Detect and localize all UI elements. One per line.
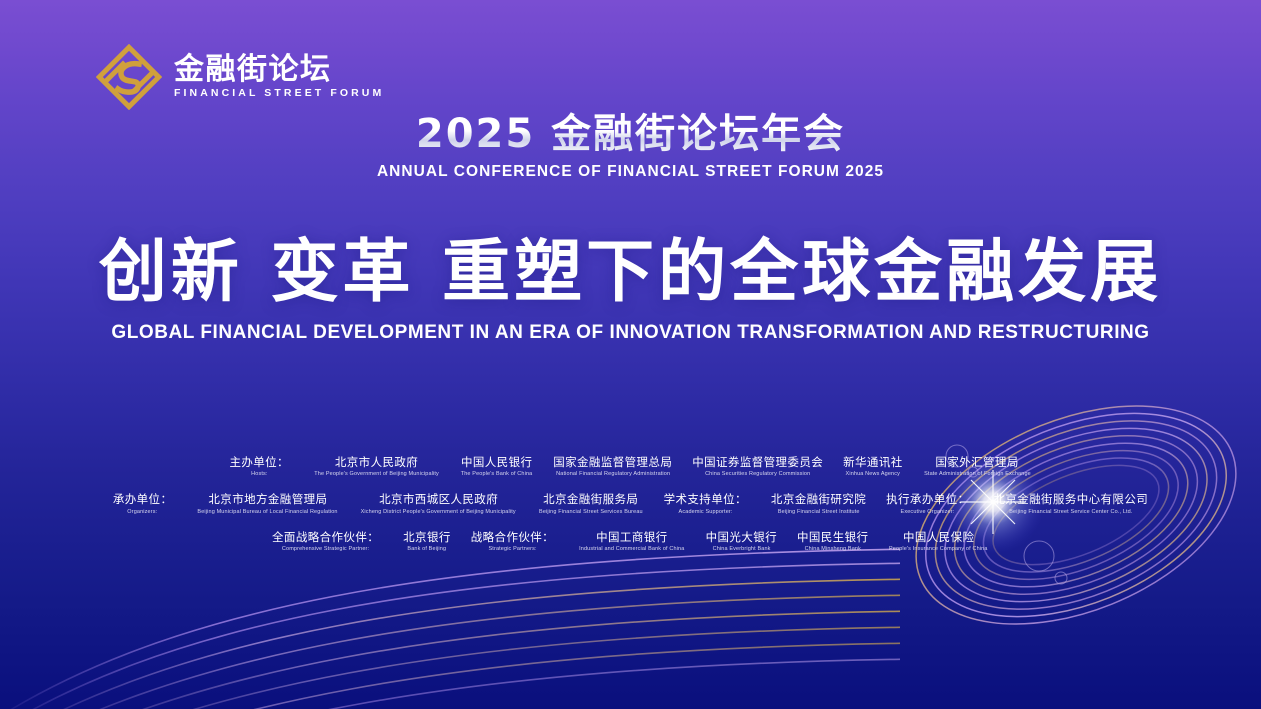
organizer-entity: 国家外汇管理局State Administration of Foreign E… [913,455,1042,478]
organizer-entity: 中国工商银行Industrial and Commercial Bank of … [568,530,696,553]
organizer-name-en: Executive Organizer: [901,509,955,516]
organizer-name-cn: 学术支持单位： [664,492,747,506]
organizer-category-label: 战略合作伙伴：Strategic Partners: [461,530,568,553]
organizer-category-label: 承办单位：Organizers: [103,492,187,515]
organizer-name-en: State Administration of Foreign Exchange [924,471,1031,478]
brand-name-cn: 金融街论坛 [174,55,384,85]
organizer-name-en: Hosts: [251,471,267,478]
organizer-name-cn: 北京金融街服务中心有限公司 [993,492,1148,506]
theme-block: 创新 变革 重塑下的全球金融发展 GLOBAL FINANCIAL DEVELO… [0,236,1261,342]
brand-name-en: FINANCIAL STREET FORUM [174,88,384,99]
organizer-entity: 北京金融街服务中心有限公司Beijing Financial Street Se… [983,492,1158,515]
organizer-name-cn: 中国人民保险 [903,530,974,544]
organizer-name-en: The People's Government of Beijing Munic… [314,471,439,478]
organizer-name-en: Beijing Financial Street Service Center … [1009,509,1132,516]
organizer-name-cn: 战略合作伙伴： [471,530,554,544]
organizer-name-cn: 中国民生银行 [797,530,868,544]
organizer-entity: 北京银行Bank of Beijing [393,530,461,553]
organizer-name-en: China Securities Regulatory Commission [705,471,810,478]
organizer-name-cn: 北京银行 [403,530,451,544]
brand-logo[interactable]: 金融街论坛 FINANCIAL STREET FORUM [96,44,384,110]
organizer-category-label: 执行承办单位：Executive Organizer: [876,492,983,515]
organizer-name-en: Organizers: [128,509,158,516]
organizer-name-en: Industrial and Commercial Bank of China [579,546,684,553]
organizer-entity: 中国人民银行The People's Bank of China [450,455,543,478]
organizer-name-cn: 中国证券监督管理委员会 [692,455,823,469]
organizer-name-en: China Minsheng Bank [804,546,860,553]
organizer-category-label: 主办单位：Hosts: [219,455,303,478]
organizer-entity: 中国证券监督管理委员会China Securities Regulatory C… [682,455,833,478]
organizer-name-cn: 国家金融监督管理总局 [553,455,672,469]
organizer-entity: 北京金融街研究院Beijing Financial Street Institu… [761,492,876,515]
poster-canvas: 金融街论坛 FINANCIAL STREET FORUM 2025 金融街论坛年… [0,0,1261,709]
theme-title-en: GLOBAL FINANCIAL DEVELOPMENT IN AN ERA O… [0,323,1261,342]
organizer-name-cn: 执行承办单位： [886,492,969,506]
organizer-name-cn: 北京市地方金融管理局 [208,492,327,506]
organizer-name-cn: 北京市西城区人民政府 [379,492,498,506]
organizer-name-en: Beijing Financial Street Services Bureau [539,509,643,516]
theme-title-cn: 创新 变革 重塑下的全球金融发展 [0,236,1261,309]
organizer-name-cn: 中国人民银行 [461,455,532,469]
organizers-block: 主办单位：Hosts:北京市人民政府The People's Governmen… [0,455,1261,553]
organizer-name-en: China Everbright Bank [712,546,770,553]
organizer-entity: 新华通讯社Xinhua News Agency [833,455,913,478]
organizer-name-en: Comprehensive Strategic Partner: [282,546,369,553]
organizer-entity: 中国人民保险People's Insurance Company of Chin… [878,530,999,553]
conference-title-en: ANNUAL CONFERENCE OF FINANCIAL STREET FO… [0,164,1261,180]
organizer-name-cn: 中国光大银行 [706,530,777,544]
organizer-name-cn: 承办单位： [113,492,173,506]
organizer-row: 主办单位：Hosts:北京市人民政府The People's Governmen… [219,455,1041,478]
organizer-name-cn: 北京金融街服务局 [543,492,638,506]
organizer-name-cn: 新华通讯社 [843,455,903,469]
organizer-name-en: Beijing Financial Street Institute [778,509,860,516]
conference-title-cn: 2025 金融街论坛年会 [0,112,1261,157]
organizer-name-en: Strategic Partners: [488,546,536,553]
organizer-name-en: Beijing Municipal Bureau of Local Financ… [198,509,338,516]
organizer-entity: 中国民生银行China Minsheng Bank [787,530,878,553]
organizer-entity: 北京市地方金融管理局Beijing Municipal Bureau of Lo… [186,492,349,515]
organizer-name-cn: 国家外汇管理局 [935,455,1018,469]
organizer-row: 承办单位：Organizers:北京市地方金融管理局Beijing Munici… [103,492,1158,515]
organizer-entity: 北京金融街服务局Beijing Financial Street Service… [528,492,654,515]
organizer-name-en: Bank of Beijing [408,546,447,553]
organizer-name-cn: 北京市人民政府 [335,455,418,469]
organizer-entity: 北京市西城区人民政府Xicheng District People's Gove… [349,492,527,515]
organizer-name-en: The People's Bank of China [461,471,533,478]
organizer-name-en: Xicheng District People's Government of … [361,509,516,516]
organizer-name-en: People's Insurance Company of China [889,546,988,553]
organizer-row: 全面战略合作伙伴：Comprehensive Strategic Partner… [262,530,999,553]
organizer-name-cn: 北京金融街研究院 [771,492,866,506]
organizer-entity: 中国光大银行China Everbright Bank [696,530,787,553]
financial-street-forum-diamond-logo-icon [96,44,162,110]
organizer-name-cn: 中国工商银行 [596,530,667,544]
conference-title-block: 2025 金融街论坛年会 ANNUAL CONFERENCE OF FINANC… [0,112,1261,179]
organizer-name-cn: 主办单位： [229,455,289,469]
organizer-name-cn: 全面战略合作伙伴： [272,530,379,544]
organizer-entity: 北京市人民政府The People's Government of Beijin… [303,455,450,478]
organizer-name-en: Xinhua News Agency [846,471,900,478]
organizer-category-label: 全面战略合作伙伴：Comprehensive Strategic Partner… [262,530,393,553]
organizer-name-en: National Financial Regulatory Administra… [556,471,670,478]
organizer-entity: 国家金融监督管理总局National Financial Regulatory … [543,455,682,478]
organizer-category-label: 学术支持单位：Academic Supporter: [654,492,761,515]
organizer-name-en: Academic Supporter: [678,509,732,516]
